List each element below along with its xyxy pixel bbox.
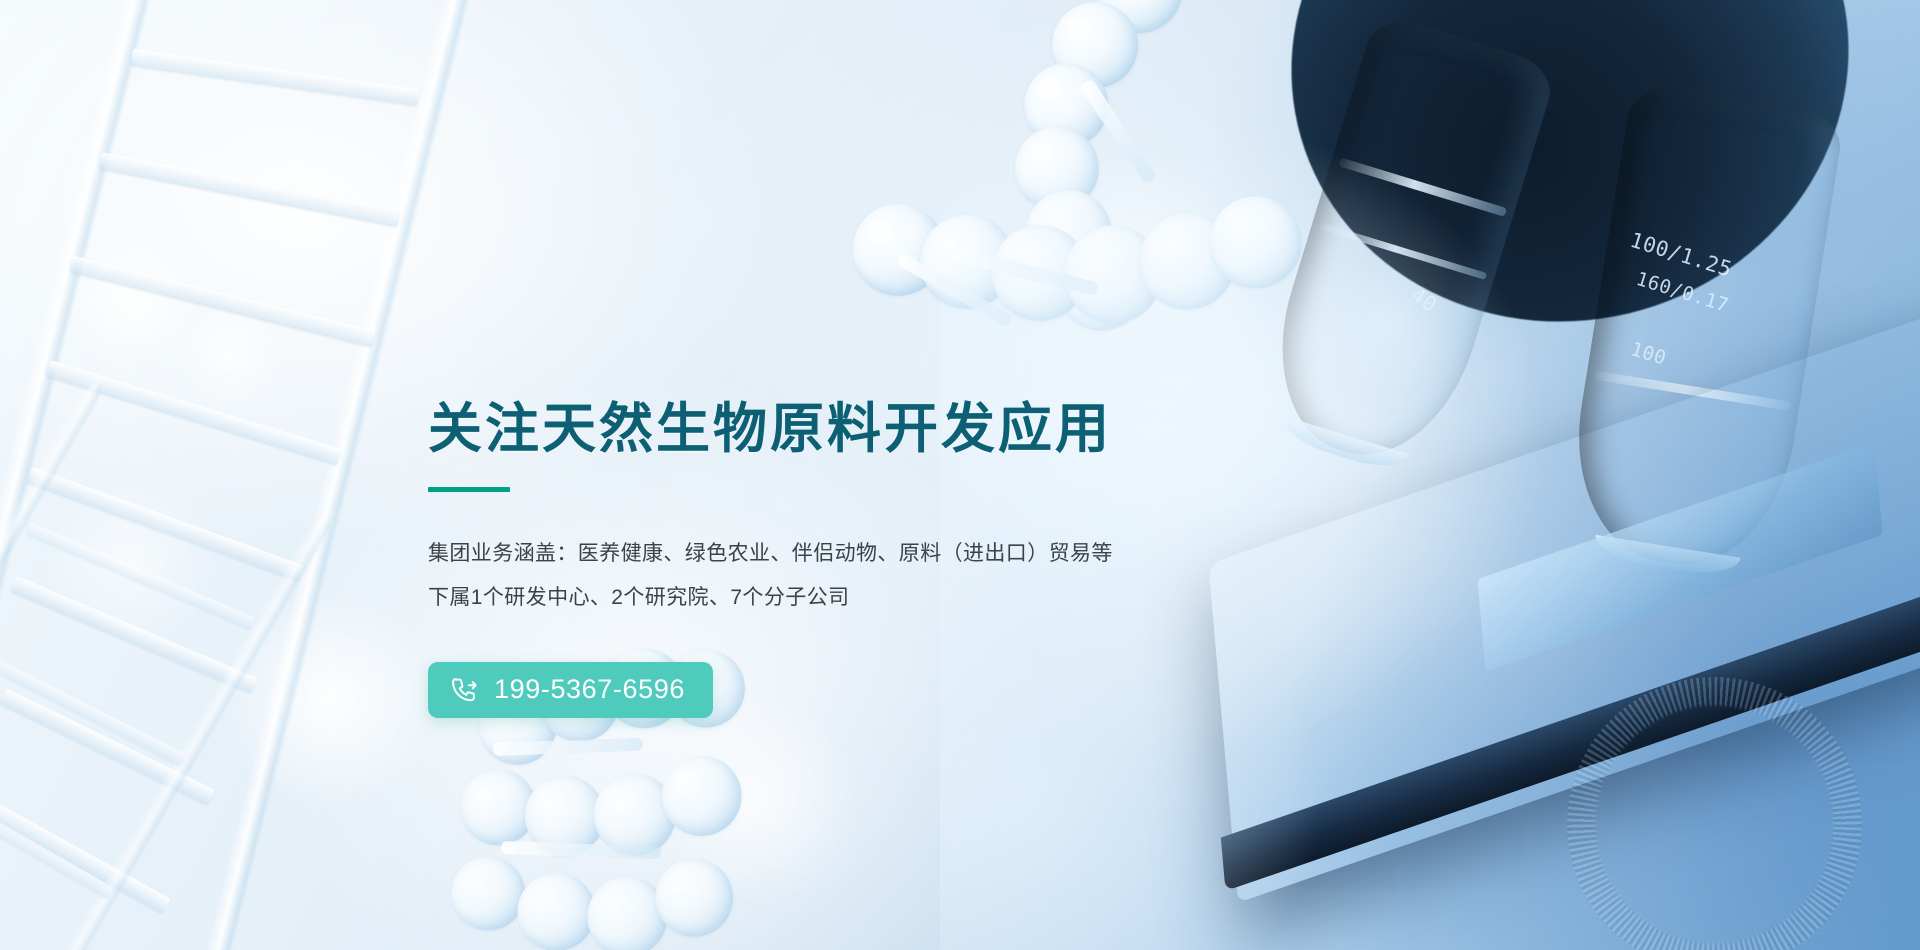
dna-strand	[0, 378, 107, 950]
dna-rung	[98, 152, 401, 227]
hero-description-line-2: 下属1个研发中心、2个研究院、7个分子公司	[428, 576, 1188, 620]
lens-ring	[1594, 371, 1791, 411]
dna-bead	[1205, 192, 1306, 293]
dna-link	[501, 841, 661, 860]
bokeh-blob	[40, 470, 220, 650]
hero-content: 关注天然生物原料开发应用 集团业务涵盖：医养健康、绿色农业、伴侣动物、原料（进出…	[428, 398, 1188, 718]
microscope-objective-lens-100x: 100/1.25 160/0.17 100	[1560, 81, 1846, 579]
dna-rung	[0, 803, 171, 914]
dna-rung	[46, 360, 343, 465]
dna-link	[896, 253, 1013, 328]
call-phone-button[interactable]: 199-5367-6596	[428, 662, 713, 718]
dna-bead	[581, 870, 674, 950]
phone-number-label: 199-5367-6596	[494, 676, 685, 703]
bokeh-blob	[1330, 60, 1520, 250]
dna-bead	[1090, 0, 1187, 38]
dna-bead	[519, 770, 612, 863]
dna-rung	[130, 49, 420, 106]
cta-row: 199-5367-6596	[428, 662, 1188, 718]
title-divider	[428, 487, 510, 492]
dna-rung	[10, 576, 258, 694]
dna-bead	[587, 767, 682, 862]
bokeh-blob	[175, 300, 285, 410]
dna-bead	[511, 867, 601, 950]
dna-rung	[0, 757, 113, 899]
dna-bead	[445, 851, 531, 937]
dna-bead	[1053, 238, 1150, 335]
lens-label-40: 40	[1406, 283, 1441, 318]
dna-bead	[987, 220, 1093, 326]
dna-rung	[0, 877, 35, 950]
dna-bead	[848, 199, 949, 300]
microscope-stage-edge	[1221, 561, 1920, 891]
dna-bead	[1011, 123, 1103, 215]
dna-bead	[1020, 59, 1112, 151]
microscope-slide-holder	[1477, 442, 1882, 671]
dna-bead	[454, 763, 542, 851]
bokeh-blob	[60, 230, 200, 370]
dna-bead	[649, 853, 739, 943]
dna-bead	[655, 750, 748, 843]
lens-ring	[1318, 222, 1487, 280]
microscope-turret	[1229, 0, 1911, 387]
dna-rung	[25, 522, 256, 630]
lens-label-100: 100	[1628, 338, 1669, 370]
dna-link	[1079, 78, 1157, 184]
dna-bead	[1059, 221, 1167, 329]
dna-bead	[1048, 0, 1143, 92]
lens-ring	[1338, 157, 1508, 217]
phone-outgoing-icon	[450, 675, 480, 705]
dna-bead	[1134, 209, 1240, 315]
dna-rung	[0, 638, 187, 767]
microscope-focus-knob-ridges	[1567, 677, 1862, 950]
page-title: 关注天然生物原料开发应用	[428, 398, 1188, 461]
dna-link	[493, 738, 643, 756]
lens-tip	[1593, 535, 1741, 580]
dna-rung	[26, 467, 304, 582]
dna-rung	[69, 255, 376, 347]
lens-label-160-0-17: 160/0.17	[1634, 268, 1732, 317]
microscope-focus-knob	[1515, 625, 1915, 950]
dna-bead	[915, 210, 1018, 313]
hero-description: 集团业务涵盖：医养健康、绿色农业、伴侣动物、原料（进出口）贸易等 下属1个研发中…	[428, 532, 1188, 620]
dna-bead	[1021, 186, 1116, 281]
hero-banner: 40 100/1.25 160/0.17 100 关注天然生物原料开发应用 集团…	[0, 0, 1920, 950]
lens-label-100-1-25: 100/1.25	[1627, 228, 1735, 282]
dna-link	[952, 247, 1099, 296]
dna-strand	[0, 0, 198, 950]
hero-description-line-1: 集团业务涵盖：医养健康、绿色农业、伴侣动物、原料（进出口）贸易等	[428, 532, 1188, 576]
